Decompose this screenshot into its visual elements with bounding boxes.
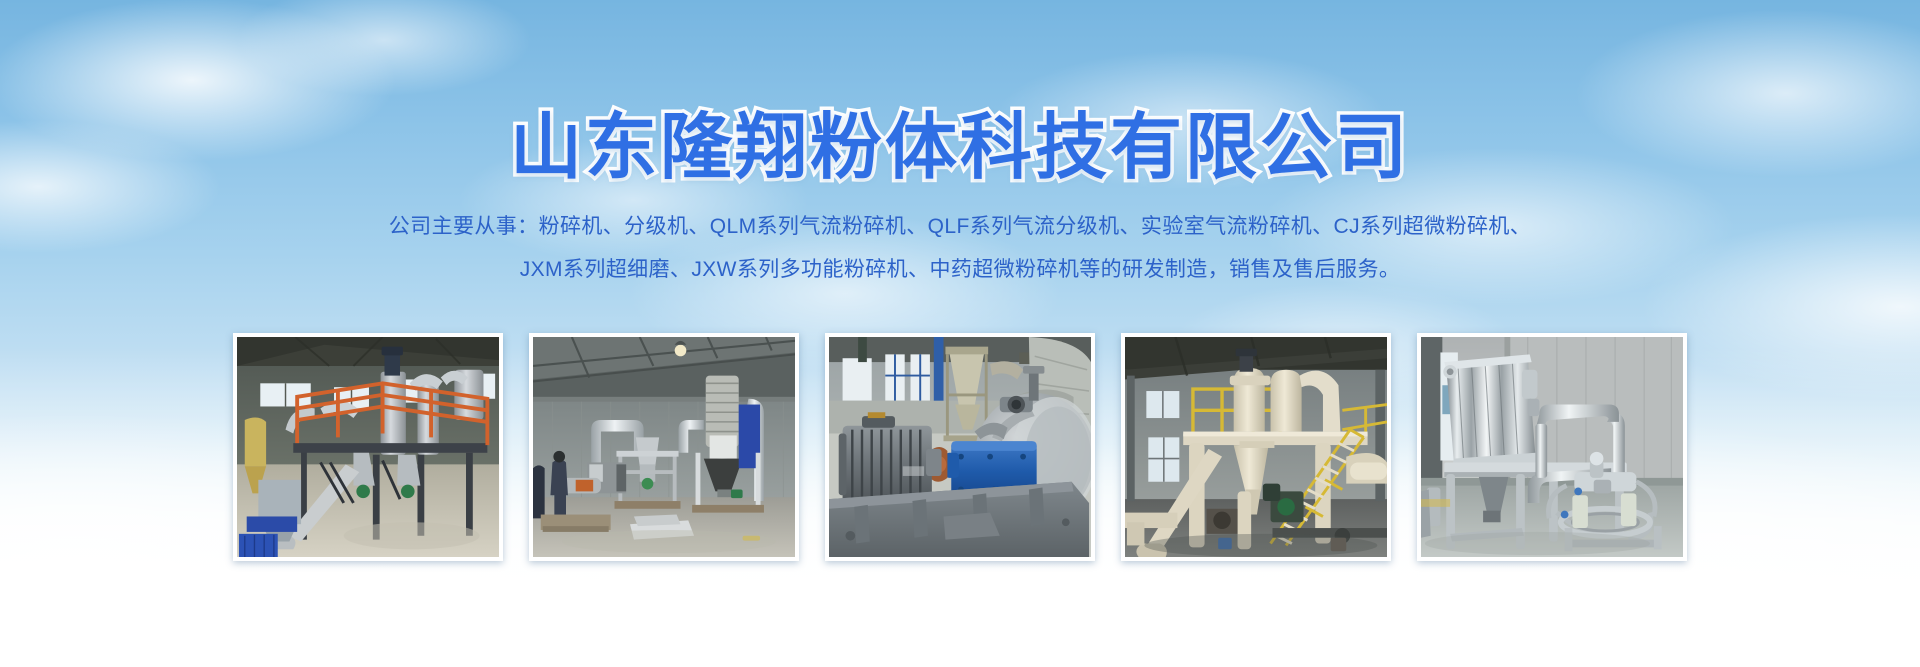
stainless-steel-lab-mill-image: [1421, 337, 1683, 557]
workshop-pulverizer-system-image: [533, 337, 795, 557]
product-photo-strip: [0, 333, 1920, 561]
product-photo-2[interactable]: [529, 333, 799, 561]
subtitle-container: 公司主要从事：粉碎机、分级机、QLM系列气流粉碎机、QLF系列气流分级机、实验室…: [0, 205, 1920, 291]
subtitle-line-2: JXM系列超细磨、JXW系列多功能粉碎机、中药超微粉碎机等的研发制造，销售及售后…: [0, 248, 1920, 291]
motor-and-classifier-unit-image: [829, 337, 1091, 557]
tower-classifier-platform-image: [1125, 337, 1387, 557]
product-photo-4[interactable]: [1121, 333, 1391, 561]
company-name-title: 山东隆翔粉体科技有限公司: [510, 103, 1410, 193]
product-photo-3[interactable]: [825, 333, 1095, 561]
product-photo-1[interactable]: [233, 333, 503, 561]
jet-mill-production-line-image: [237, 337, 499, 557]
company-banner: 山东隆翔粉体科技有限公司 公司主要从事：粉碎机、分级机、QLM系列气流粉碎机、Q…: [0, 0, 1920, 667]
product-photo-5[interactable]: [1417, 333, 1687, 561]
subtitle-line-1: 公司主要从事：粉碎机、分级机、QLM系列气流粉碎机、QLF系列气流分级机、实验室…: [0, 205, 1920, 248]
